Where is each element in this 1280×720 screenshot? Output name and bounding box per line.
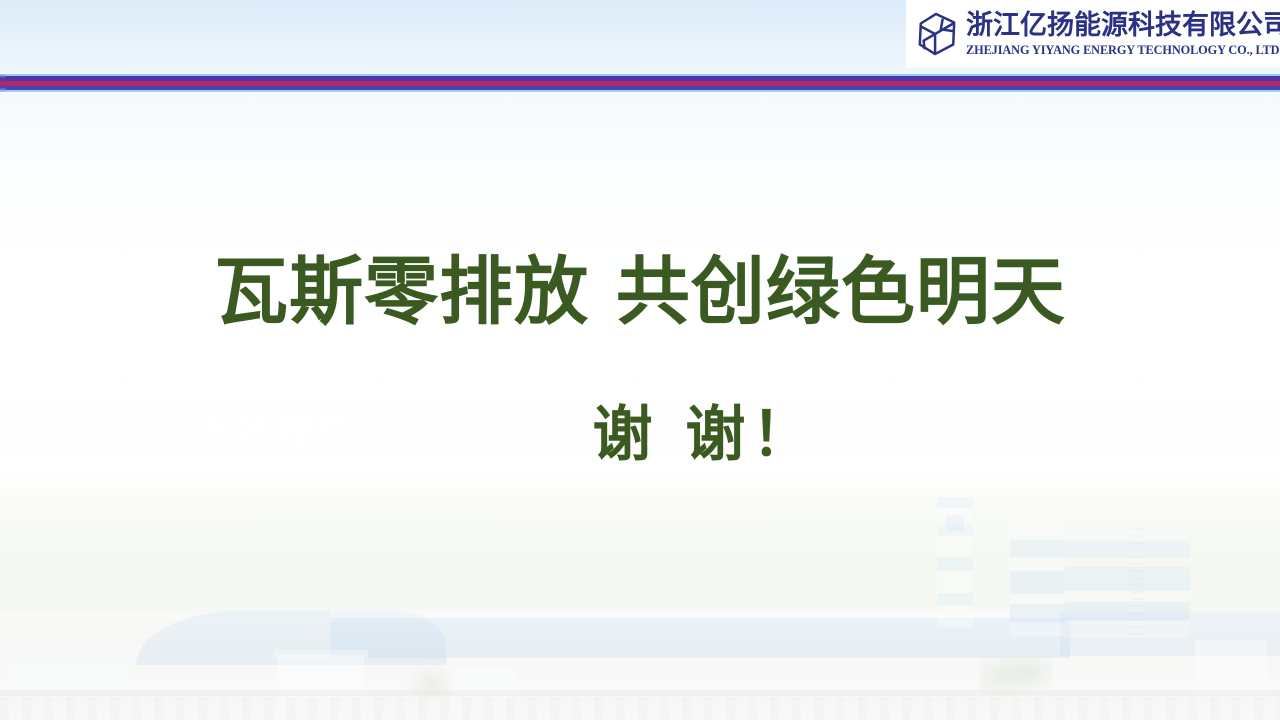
striped-plant-building-wide [1065,530,1190,638]
decorative-stripe [0,74,1280,92]
pipe-rack-line [0,690,1280,696]
right-utility-building [1195,640,1267,694]
tower-logo-mark-icon [946,515,964,531]
company-name-cn: 浙江亿扬能源科技有限公司 [966,12,1280,39]
slide-canvas: 市场推广 浙江亿扬能源科技有限公司 ZHEJIANG YIYANG ENERGY… [0,0,1280,720]
tree-cluster-right [980,648,1052,696]
company-name-en: ZHEJIANG YIYANG ENERGY TECHNOLOGY CO., L… [966,44,1280,56]
yard-foreground [0,697,1280,720]
stripe-layer-bottom [0,90,1280,92]
stripe-left-cap [0,74,6,92]
slide-thanks-text: 谢 谢！ [0,405,1280,465]
company-logo-text: 浙江亿扬能源科技有限公司 ZHEJIANG YIYANG ENERGY TECH… [966,12,1280,56]
hexagon-cube-logo-icon [916,11,958,57]
striped-plant-building [1010,524,1065,636]
background-photo [0,0,1280,720]
company-logo-plate: 浙江亿扬能源科技有限公司 ZHEJIANG YIYANG ENERGY TECH… [906,0,1280,68]
slide-headline: 瓦斯零排放 共创绿色明天 [0,255,1280,329]
lattice-tower [1130,528,1144,640]
